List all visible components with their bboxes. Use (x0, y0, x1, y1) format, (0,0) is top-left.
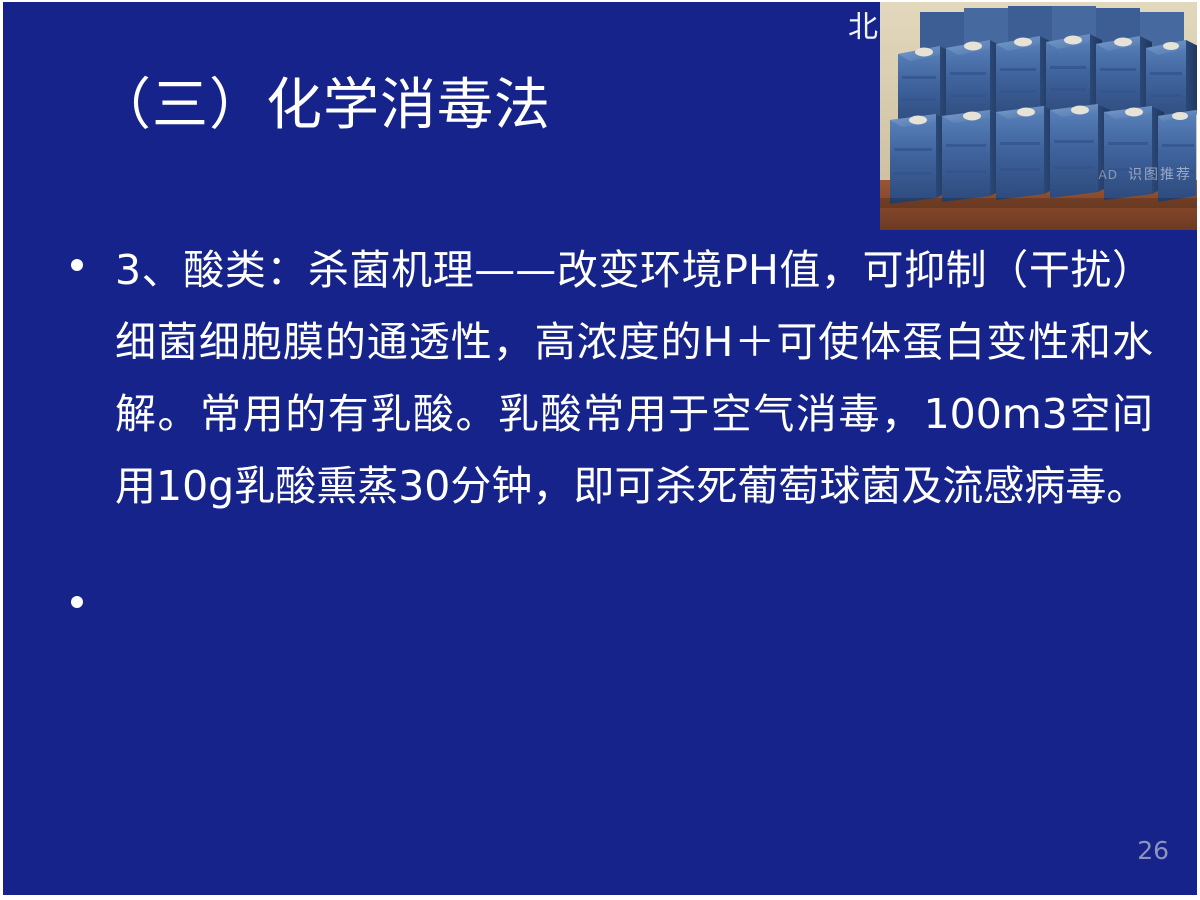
bullet-dot-icon (71, 259, 83, 271)
body-content: 3、酸类：杀菌机理——改变环境PH值，可抑制（干扰）细菌细胞膜的通透性，高浓度的… (63, 234, 1153, 638)
drums-illustration (880, 2, 1197, 230)
list-item: 3、酸类：杀菌机理——改变环境PH值，可抑制（干扰）细菌细胞膜的通透性，高浓度的… (63, 234, 1153, 522)
image-watermark: AD识图推荐 (1099, 164, 1192, 184)
list-item-text: 3、酸类：杀菌机理——改变环境PH值，可抑制（干扰）细菌细胞膜的通透性，高浓度的… (63, 234, 1153, 522)
list-item (63, 578, 1153, 638)
page-title: （三）化学消毒法 (95, 74, 551, 138)
chemical-drums-photo: AD识图推荐 (880, 2, 1197, 230)
slide-canvas: 北京 （三）化学消毒法 3、酸类：杀菌机理——改变环境PH值，可抑制（干扰）细菌… (3, 2, 1197, 895)
watermark-ad-label: AD (1099, 168, 1118, 182)
bullet-dot-icon (71, 596, 83, 608)
slide: 北京 （三）化学消毒法 3、酸类：杀菌机理——改变环境PH值，可抑制（干扰）细菌… (0, 0, 1200, 900)
watermark-text: 识图推荐 (1128, 167, 1192, 183)
page-number: 26 (1137, 836, 1169, 865)
